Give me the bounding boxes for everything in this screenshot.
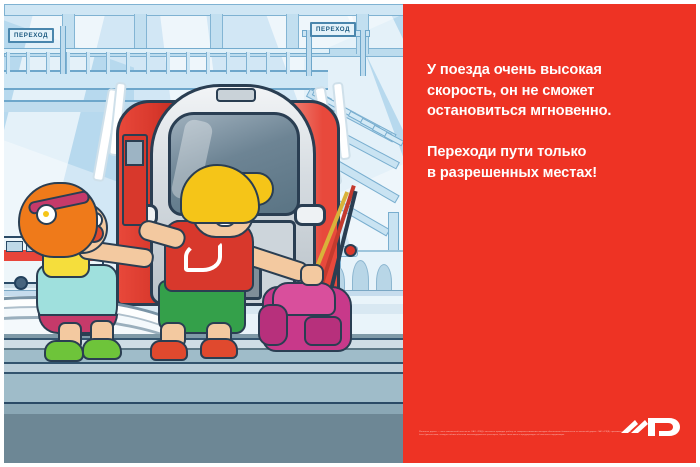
safety-poster: ПЕРЕХОД ПЕРЕХОД — [0, 0, 700, 467]
crossing-sign-post — [360, 30, 366, 76]
message-line-1: У поезда очень высокая — [427, 60, 679, 81]
ski-pole-grip — [344, 244, 357, 257]
boy-right-hand — [300, 264, 324, 286]
railing-baluster — [86, 52, 90, 74]
railing-baluster — [126, 52, 130, 74]
message-line-4: Переходи пути только — [427, 142, 679, 163]
person-silhouette — [352, 260, 369, 294]
message-line-3: остановиться мгновенно. — [427, 101, 679, 122]
crossing-sign: ПЕРЕХОД — [8, 28, 54, 43]
illustration-panel: ПЕРЕХОД ПЕРЕХОД — [4, 4, 403, 463]
train-door-window — [125, 140, 144, 166]
boy-left-shoe — [150, 340, 188, 361]
message-panel: У поезда очень высокая скорость, он не с… — [403, 4, 696, 463]
girl-character — [12, 182, 152, 352]
railing-baluster — [106, 52, 110, 74]
girl-left-shoe — [44, 340, 84, 362]
crossing-sign: ПЕРЕХОД — [310, 22, 356, 37]
railing-baluster — [186, 52, 190, 74]
railing-baluster — [46, 52, 50, 74]
message-spacer — [427, 122, 679, 142]
railing-baluster — [66, 52, 70, 74]
message-line-5: в разрешенных местах! — [427, 163, 679, 184]
railing-baluster — [266, 52, 270, 74]
railing-baluster — [246, 52, 250, 74]
train-roof-unit — [216, 88, 256, 102]
disclaimer-text: Железная дорога — зона повышенной опасно… — [419, 431, 631, 438]
crossing-sign-post — [60, 26, 66, 74]
overpass-railing — [4, 48, 328, 72]
rail — [4, 362, 403, 374]
rzd-logo — [620, 405, 682, 445]
boy-character — [144, 164, 329, 354]
railing-baluster — [26, 52, 30, 74]
shirt-swoosh-emblem — [184, 242, 222, 272]
flower-hair-accessory — [36, 204, 57, 225]
railing-baluster — [146, 52, 150, 74]
railing-baluster — [6, 52, 10, 74]
railing-baluster — [226, 52, 230, 74]
girl-right-shoe — [82, 338, 122, 360]
safety-message: У поезда очень высокая скорость, он не с… — [427, 60, 679, 184]
railing-baluster — [166, 52, 170, 74]
boy-right-shoe — [200, 338, 238, 359]
message-line-2: скорость, он не сможет — [427, 81, 679, 102]
railing-baluster — [286, 52, 290, 74]
foreground-ground — [4, 414, 403, 463]
railing-baluster — [206, 52, 210, 74]
